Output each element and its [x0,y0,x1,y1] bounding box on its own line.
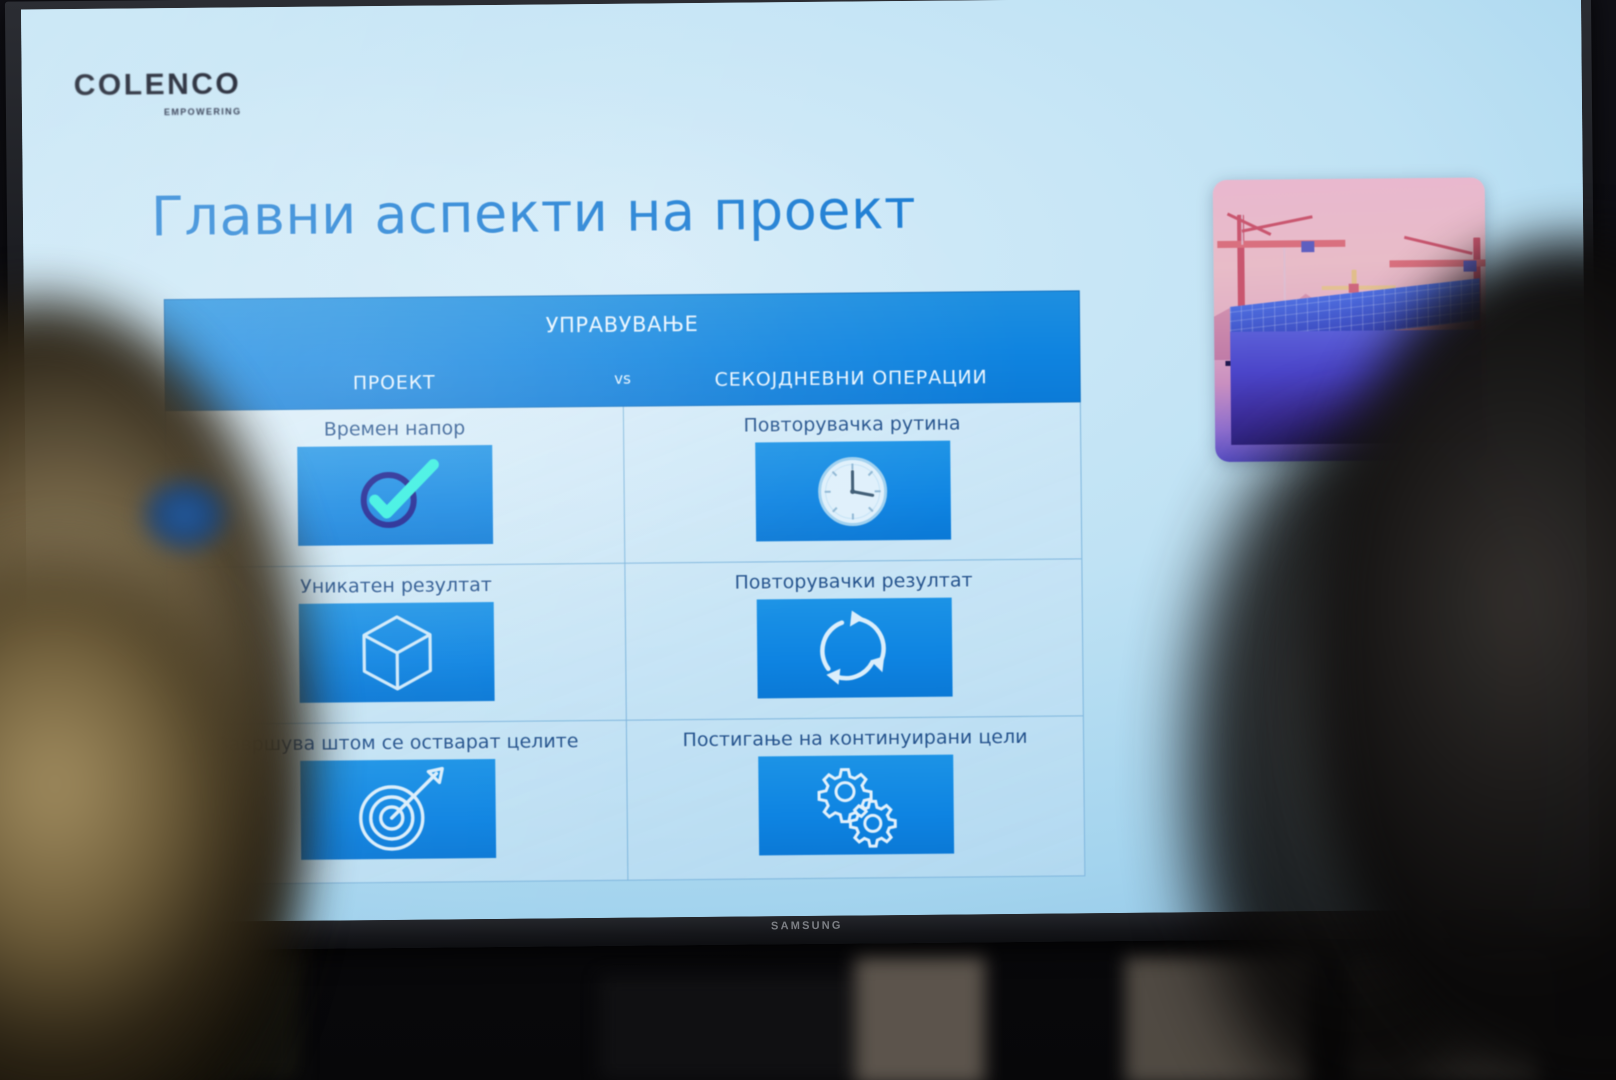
table-cell: Постигање на континуирани цели [626,716,1085,879]
table-header-title: УПРАВУВАЊЕ [165,308,1079,341]
room-object [0,940,300,1080]
icon-tile [297,445,493,546]
icon-tile [758,755,954,856]
cell-label: Завршува штом се остварат целите [217,730,579,755]
presentation-slide: COLENCO EMPOWERING Главни аспекти на про… [21,0,1590,923]
cell-label: Постигање на континуирани цели [682,726,1027,751]
cube-icon [357,610,436,695]
slide-title: Главни аспекти на проект [151,178,917,248]
icon-tile [756,598,952,699]
television: COLENCO EMPOWERING Главни аспекти на про… [5,0,1600,952]
icon-tile [755,441,951,542]
table-cell: Уникатен резултат [167,564,625,724]
cell-label: Повторувачки резултат [734,569,972,593]
column-header-project: ПРОЕКТ [166,370,623,396]
table-cell: Времен напор [166,407,624,567]
table-row: Времен напор Повторувачка рутина [166,402,1081,568]
column-header-vs: vs [614,370,631,388]
checkmark-icon [347,454,444,537]
colenco-logo: COLENCO EMPOWERING [74,69,242,118]
table-cell: Завршува штом се остварат целите [169,721,628,884]
cell-label: Уникатен резултат [300,574,492,598]
cell-label: Времен напор [324,417,466,440]
table-row: Уникатен резултат [167,559,1082,725]
table-header: УПРАВУВАЊЕ ПРОЕКТ vs СЕКОЈДНЕВНИ ОПЕРАЦИ… [164,290,1081,411]
photograph-of-tv-presentation: COLENCO EMPOWERING Главни аспекти на про… [0,0,1616,1080]
icon-tile [300,759,496,860]
room-object [855,955,985,1080]
tv-screen: COLENCO EMPOWERING Главни аспекти на про… [21,0,1590,923]
cell-label: Повторувачка рутина [743,413,960,437]
column-header-operations: СЕКОЈДНЕВНИ ОПЕРАЦИИ [622,365,1079,391]
icon-tile [299,602,495,703]
room-object [600,975,860,1080]
table-body: Времен напор Повторувачка рутина [165,402,1086,885]
recycle-arrows-icon [812,606,897,691]
table-cell: Повторувачки резултат [624,559,1082,719]
table-row: Завршува штом се остварат целите [169,716,1084,884]
room-object [1125,955,1310,1080]
table-column-headers: ПРОЕКТ vs СЕКОЈДНЕВНИ ОПЕРАЦИИ [166,365,1080,396]
illustration-structure [1230,330,1481,445]
logo-tagline: EMPOWERING [74,106,242,118]
comparison-table: УПРАВУВАЊЕ ПРОЕКТ vs СЕКОЈДНЕВНИ ОПЕРАЦИ… [164,290,1086,884]
logo-wordmark: COLENCO [74,69,242,101]
target-arrow-icon [348,765,449,854]
table-cell: Повторувачка рутина [623,402,1081,562]
construction-illustration-thumbnail [1213,177,1488,462]
room-object [1350,955,1540,1080]
gears-icon [807,761,904,850]
samsung-brand-label: SAMSUNG [771,920,843,933]
clock-icon [812,451,893,532]
